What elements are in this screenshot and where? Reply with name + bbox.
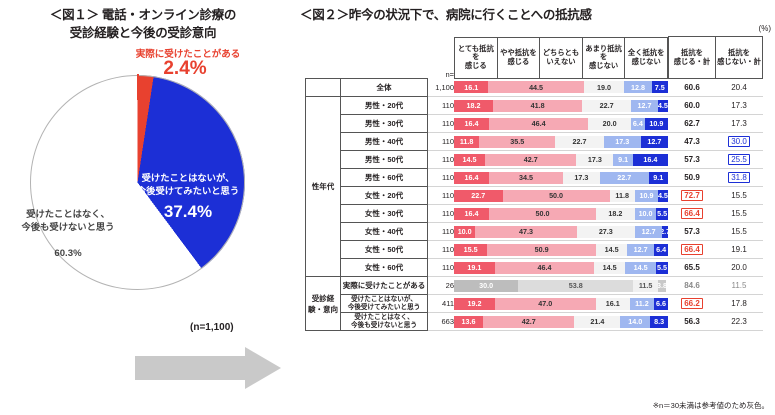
row-disagree-total: 17.3: [716, 97, 763, 115]
row-agree-total: 62.7: [669, 115, 716, 133]
row-bar: 11.835.522.717.312.7: [454, 133, 669, 151]
pie-label-unwilling: 受けたことはなく、 今後も受けないと思う: [8, 208, 128, 234]
figure1-sample-size: (n=1,100): [190, 322, 234, 333]
row-label: 受けたことはなく、今後も受けないと思う: [341, 313, 428, 331]
row-label-line: 男性・40代: [341, 136, 427, 147]
bar-segment-2: 50.0: [489, 208, 596, 220]
row-bar: 16.446.420.06.410.9: [454, 115, 669, 133]
bar-segment-3: 22.7: [555, 136, 604, 148]
header-spacer-category: [306, 37, 341, 79]
pie-value-willing: 37.4%: [128, 202, 248, 222]
legend-item-2: やや抵抗を感じる: [498, 38, 541, 78]
bar-segment-4: 6.4: [631, 118, 645, 130]
bar-segment-1: 16.4: [454, 118, 489, 130]
legend-item-2-line2: 感じる: [498, 58, 540, 67]
row-label-line: 男性・50代: [341, 154, 427, 165]
row-disagree-total: 15.5: [716, 187, 763, 205]
row-label-line: 今後受けてみたいと思う: [341, 304, 427, 311]
row-label-line: 女性・20代: [341, 190, 427, 201]
row-disagree-total: 19.1: [716, 241, 763, 259]
bar-segment-5: 4.5: [658, 190, 668, 202]
row-agree-total: 50.9: [669, 169, 716, 187]
legend-item-5: 全く抵抗を感じない: [625, 38, 667, 78]
summary-header-2-line2: 感じない・計: [716, 58, 762, 67]
bar-segment-2: 46.4: [489, 118, 588, 130]
bar-segment-2: 42.7: [483, 316, 574, 328]
table-row: 受診経験・意向実際に受けたことがある2630.053.811.53.884.61…: [306, 277, 763, 295]
header-spacer-label: [341, 37, 428, 79]
bar-segment-4: 14.5: [625, 262, 656, 274]
pie-label-willing-line1: 受けたことはないが、: [128, 172, 248, 185]
bar-segment-4: 9.1: [613, 154, 632, 166]
bar-segment-5: 5.5: [656, 262, 668, 274]
row-disagree-total: 17.8: [716, 295, 763, 313]
table-row: 性年代男性・20代11018.241.822.712.74.560.017.3: [306, 97, 763, 115]
row-agree-total: 66.4: [669, 205, 716, 223]
row-n: 110: [428, 187, 455, 205]
bar-segment-3: 18.2: [596, 208, 635, 220]
bar-segment-3: 16.1: [596, 298, 630, 310]
bar-segment-1: 19.1: [454, 262, 495, 274]
table-row: 女性・40代11010.047.327.312.72.757.315.5: [306, 223, 763, 241]
row-bar: 16.450.018.210.05.5: [454, 205, 669, 223]
figure2-table: n=とても抵抗を感じるやや抵抗を感じるどちらともいえないあまり抵抗を感じない全く…: [305, 36, 763, 331]
row-disagree-total-highlight: 25.5: [728, 154, 750, 165]
figure2-table-header: n=とても抵抗を感じるやや抵抗を感じるどちらともいえないあまり抵抗を感じない全く…: [306, 37, 763, 79]
legend-item-1-line1: とても抵抗を: [455, 45, 497, 62]
row-label-line: 女性・30代: [341, 208, 427, 219]
bar-segment-5: 9.1: [649, 172, 668, 184]
header-n: n=: [428, 37, 455, 79]
row-agree-total-highlight: 66.4: [681, 244, 703, 255]
row-bar: 16.144.519.012.87.5: [454, 79, 669, 97]
bar-segment-5: 10.9: [645, 118, 668, 130]
row-bar: 19.146.414.514.55.5: [454, 259, 669, 277]
row-label-line: 全体: [341, 82, 427, 93]
row-bar: 13.642.721.414.08.3: [454, 313, 669, 331]
row-agree-total: 60.6: [669, 79, 716, 97]
row-disagree-total: 15.5: [716, 223, 763, 241]
row-label-line: 女性・40代: [341, 226, 427, 237]
figure2-unit: (%): [759, 24, 771, 33]
row-n: 411: [428, 295, 455, 313]
row-agree-total-highlight: 66.4: [681, 208, 703, 219]
row-label: 男性・30代: [341, 115, 428, 133]
row-disagree-total: 31.8: [716, 169, 763, 187]
figure1-title-line1: ＜図１＞ 電話・オンライン診療の: [18, 6, 268, 24]
row-bar: 14.542.717.39.116.4: [454, 151, 669, 169]
table-row: 女性・30代11016.450.018.210.05.566.415.5: [306, 205, 763, 223]
row-n: 110: [428, 115, 455, 133]
table-row: 女性・50代11015.550.914.512.76.466.419.1: [306, 241, 763, 259]
bar-segment-1: 16.4: [454, 208, 489, 220]
row-bar: 15.550.914.512.76.4: [454, 241, 669, 259]
legend-item-4-line2: 感じない: [583, 62, 625, 71]
bar-segment-1: 13.6: [454, 316, 483, 328]
legend-item-3: どちらともいえない: [540, 38, 583, 78]
row-label: 女性・60代: [341, 259, 428, 277]
row-label: 女性・20代: [341, 187, 428, 205]
legend-item-3-line2: いえない: [540, 58, 582, 67]
bar-segment-4: 17.3: [604, 136, 641, 148]
bar-segment-3: 11.8: [610, 190, 635, 202]
row-n: 110: [428, 97, 455, 115]
row-bar: 16.434.517.322.79.1: [454, 169, 669, 187]
row-agree-total-highlight: 72.7: [681, 190, 703, 201]
bar-segment-2: 41.8: [493, 100, 582, 112]
legend-item-4-line1: あまり抵抗を: [583, 45, 625, 62]
legend-item-1-line2: 感じる: [455, 62, 497, 71]
legend-item-4: あまり抵抗を感じない: [583, 38, 626, 78]
row-label-line: 男性・20代: [341, 100, 427, 111]
bar-segment-1: 15.5: [454, 244, 487, 256]
legend-item-1: とても抵抗を感じる: [455, 38, 498, 78]
bar-segment-1: 19.2: [454, 298, 495, 310]
bar-segment-5: 6.6: [654, 298, 668, 310]
bar-segment-4: 10.0: [635, 208, 656, 220]
row-disagree-total: 15.5: [716, 205, 763, 223]
row-disagree-total: 20.4: [716, 79, 763, 97]
bar-segment-2: 53.8: [518, 280, 633, 292]
row-n: 1,100: [428, 79, 455, 97]
row-n: 110: [428, 223, 455, 241]
bar-segment-3: 11.5: [633, 280, 658, 292]
row-bar: 22.750.011.810.94.5: [454, 187, 669, 205]
row-agree-total: 57.3: [669, 151, 716, 169]
row-bar: 30.053.811.53.8: [454, 277, 669, 295]
row-n: 110: [428, 259, 455, 277]
row-label-line: 女性・50代: [341, 244, 427, 255]
leader-line: [137, 74, 139, 100]
row-n: 110: [428, 205, 455, 223]
flow-arrow-icon: [135, 347, 285, 389]
bar-segment-3: 14.5: [594, 262, 625, 274]
bar-segment-2: 42.7: [485, 154, 576, 166]
row-label: 男性・60代: [341, 169, 428, 187]
row-label-line: 受けたことはなく、: [341, 314, 427, 321]
bar-segment-3: 27.3: [577, 226, 635, 238]
row-label: 男性・20代: [341, 97, 428, 115]
row-label-line: 男性・60代: [341, 172, 427, 183]
bar-segment-4: 12.7: [635, 226, 662, 238]
row-category: 性年代: [306, 97, 341, 277]
row-label-line: 実際に受けたことがある: [341, 280, 427, 291]
bar-segment-3: 20.0: [588, 118, 631, 130]
row-label-line: 男性・30代: [341, 118, 427, 129]
bar-segment-4: 14.0: [620, 316, 650, 328]
row-disagree-total: 17.3: [716, 115, 763, 133]
figure1-title-line2: 受診経験と今後の受診意向: [18, 24, 268, 42]
figure2-footnote: ※n＝30未満は参考値のため灰色。: [653, 400, 769, 411]
bar-segment-2: 35.5: [479, 136, 555, 148]
figure1-title: ＜図１＞ 電話・オンライン診療の 受診経験と今後の受診意向: [18, 6, 268, 42]
row-category: [306, 79, 341, 97]
bar-segment-1: 16.1: [454, 81, 488, 93]
bar-segment-3: 14.5: [596, 244, 627, 256]
bar-segment-3: 22.7: [582, 100, 631, 112]
bar-segment-2: 50.9: [487, 244, 596, 256]
row-label: 女性・30代: [341, 205, 428, 223]
bar-segment-5: 8.3: [650, 316, 668, 328]
bar-segment-5: 6.4: [654, 244, 668, 256]
table-row: 全体1,10016.144.519.012.87.560.620.4: [306, 79, 763, 97]
row-n: 110: [428, 133, 455, 151]
bar-segment-1: 14.5: [454, 154, 485, 166]
row-disagree-total: 20.0: [716, 259, 763, 277]
row-n: 663: [428, 313, 455, 331]
bar-segment-4: 22.7: [600, 172, 649, 184]
row-disagree-total-highlight: 30.0: [728, 136, 750, 147]
row-n: 110: [428, 151, 455, 169]
summary-header-2: 抵抗を感じない・計: [716, 37, 763, 79]
row-bar: 18.241.822.712.74.5: [454, 97, 669, 115]
bar-segment-4: 11.2: [630, 298, 654, 310]
bar-segment-5: 4.5: [658, 100, 668, 112]
row-disagree-total-highlight: 31.8: [728, 172, 750, 183]
pie-label-unwilling-line1: 受けたことはなく、: [8, 208, 128, 221]
row-disagree-total: 30.0: [716, 133, 763, 151]
bar-segment-2: 44.5: [488, 81, 583, 93]
bar-segment-1: 18.2: [454, 100, 493, 112]
bar-segment-5: 16.4: [633, 154, 668, 166]
row-label: 実際に受けたことがある: [341, 277, 428, 295]
row-agree-total-highlight: 66.2: [681, 298, 703, 309]
summary-header-1: 抵抗を感じる・計: [669, 37, 716, 79]
bar-segment-3: 21.4: [574, 316, 620, 328]
bar-segment-3: 17.3: [563, 172, 600, 184]
bar-segment-3: 19.0: [584, 81, 625, 93]
bar-segment-3: 17.3: [576, 154, 613, 166]
pie-value-unwilling: 60.3%: [8, 248, 128, 259]
table-row: 受けたことはなく、今後も受けないと思う66313.642.721.414.08.…: [306, 313, 763, 331]
table-row: 男性・50代11014.542.717.39.116.457.325.5: [306, 151, 763, 169]
bar-segment-2: 46.4: [495, 262, 594, 274]
row-bar: 19.247.016.111.26.6: [454, 295, 669, 313]
row-label: 受けたことはないが、今後受けてみたいと思う: [341, 295, 428, 313]
row-agree-total: 65.5: [669, 259, 716, 277]
row-n: 26: [428, 277, 455, 295]
bar-segment-1: 22.7: [454, 190, 503, 202]
figure2-table-body: 全体1,10016.144.519.012.87.560.620.4性年代男性・…: [306, 79, 763, 331]
summary-header-1-line2: 感じる・計: [669, 58, 715, 67]
row-disagree-total: 11.5: [716, 277, 763, 295]
bar-segment-2: 47.0: [495, 298, 596, 310]
row-label: 男性・40代: [341, 133, 428, 151]
row-agree-total: 66.4: [669, 241, 716, 259]
bar-segment-5: 12.7: [641, 136, 668, 148]
row-disagree-total: 22.3: [716, 313, 763, 331]
bar-segment-2: 34.5: [489, 172, 563, 184]
row-bar: 10.047.327.312.72.7: [454, 223, 669, 241]
table-row: 受けたことはないが、今後受けてみたいと思う41119.247.016.111.2…: [306, 295, 763, 313]
pie-label-willing-line2: 今後受けてみたいと思う: [128, 185, 248, 198]
row-label: 全体: [341, 79, 428, 97]
row-category: 受診経験・意向: [306, 277, 341, 331]
bar-segment-4: 3.8: [658, 280, 666, 292]
table-row: 男性・60代11016.434.517.322.79.150.931.8: [306, 169, 763, 187]
row-n: 110: [428, 241, 455, 259]
row-agree-total: 60.0: [669, 97, 716, 115]
row-label-line: 受けたことはないが、: [341, 296, 427, 303]
legend-item-5-line2: 感じない: [625, 58, 667, 67]
bar-segment-2: 47.3: [475, 226, 576, 238]
row-agree-total: 66.2: [669, 295, 716, 313]
bar-segment-2: 50.0: [503, 190, 610, 202]
table-row: 女性・20代11022.750.011.810.94.572.715.5: [306, 187, 763, 205]
row-label-line: 女性・60代: [341, 262, 427, 273]
bar-segment-1: 16.4: [454, 172, 489, 184]
row-agree-total: 84.6: [669, 277, 716, 295]
row-label: 男性・50代: [341, 151, 428, 169]
bar-segment-4: 12.7: [627, 244, 654, 256]
row-n: 110: [428, 169, 455, 187]
table-row: 男性・30代11016.446.420.06.410.962.717.3: [306, 115, 763, 133]
pie-label-willing: 受けたことはないが、 今後受けてみたいと思う: [128, 172, 248, 197]
row-agree-total: 56.3: [669, 313, 716, 331]
bar-segment-5: 5.5: [656, 208, 668, 220]
legend: とても抵抗を感じるやや抵抗を感じるどちらともいえないあまり抵抗を感じない全く抵抗…: [454, 37, 669, 79]
row-agree-total: 47.3: [669, 133, 716, 151]
bar-segment-4: 12.8: [624, 81, 651, 93]
table-row: 女性・60代11019.146.414.514.55.565.520.0: [306, 259, 763, 277]
bar-segment-1: 11.8: [454, 136, 479, 148]
bar-segment-4: 10.9: [635, 190, 658, 202]
row-label-line: 今後も受けないと思う: [341, 322, 427, 329]
bar-segment-5: 2.7: [662, 226, 668, 238]
pie-value-experienced: 2.4%: [120, 58, 250, 80]
table-row: 男性・40代11011.835.522.717.312.747.330.0: [306, 133, 763, 151]
row-label: 女性・50代: [341, 241, 428, 259]
pie-label-unwilling-line2: 今後も受けないと思う: [8, 221, 128, 234]
bar-segment-4: 12.7: [631, 100, 658, 112]
row-label: 女性・40代: [341, 223, 428, 241]
figure2-title: ＜図２＞昨今の状況下で、病院に行くことへの抵抗感: [300, 6, 770, 24]
bar-segment-5: 7.5: [652, 81, 668, 93]
row-agree-total: 57.3: [669, 223, 716, 241]
bar-segment-1: 10.0: [454, 226, 475, 238]
row-agree-total: 72.7: [669, 187, 716, 205]
row-disagree-total: 25.5: [716, 151, 763, 169]
bar-segment-1: 30.0: [454, 280, 518, 292]
